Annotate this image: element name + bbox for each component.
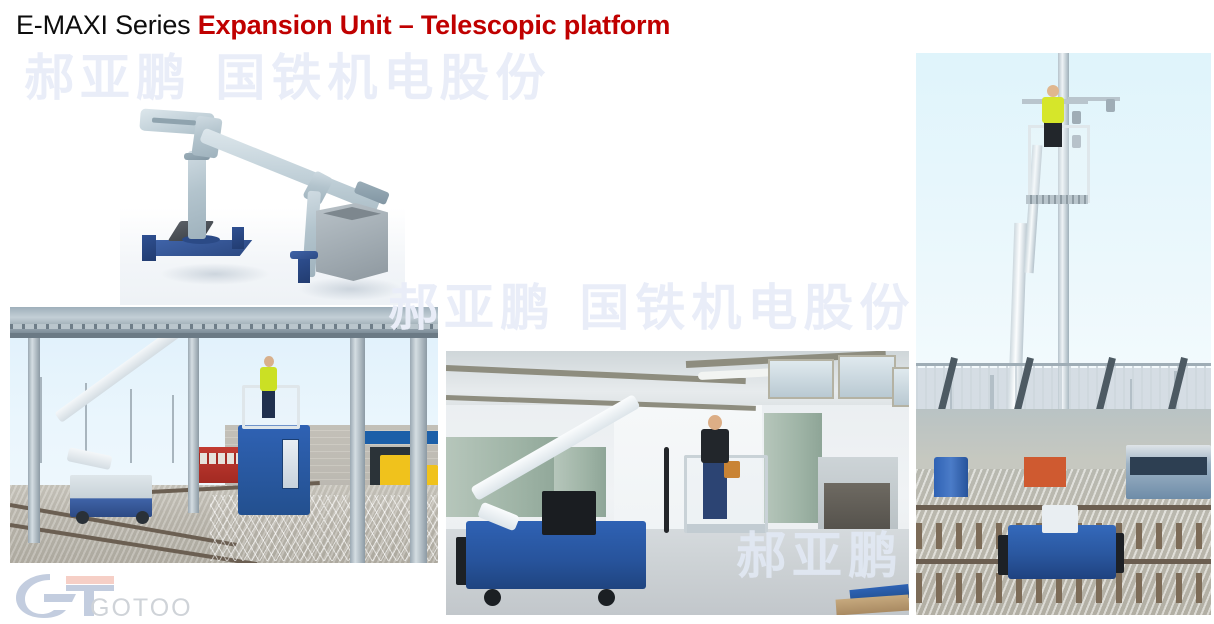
cad-main-boom	[199, 128, 381, 213]
depot-column-3	[350, 338, 365, 563]
catenary-basket-floor	[1026, 195, 1088, 204]
catenary-orange-container	[1024, 457, 1066, 487]
page-title: E-MAXI Series Expansion Unit – Telescopi…	[16, 8, 670, 42]
gotoo-wordmark: GOTOO	[90, 594, 193, 623]
depot-column-4	[410, 338, 427, 563]
catenary-vehicle-placard	[1042, 505, 1078, 533]
workshop-green-panel-right	[764, 413, 822, 523]
catenary-blue-tank	[934, 457, 968, 497]
workshop-window-1	[768, 359, 834, 399]
depot-worker-head	[264, 356, 274, 367]
workshop-worker-torso	[701, 429, 729, 463]
gotoo-logo: GOTOO	[14, 572, 214, 622]
catenary-worker-hi-vis-vest	[1042, 97, 1064, 123]
depot-wheel-left	[76, 511, 89, 524]
workshop-window-3	[892, 367, 909, 407]
depot-cabinet-window	[282, 439, 299, 489]
workshop-worker-tool-belt	[724, 461, 740, 478]
photo-depot	[10, 307, 438, 563]
watermark-middle: 郝亚鹏 国铁机电股份	[388, 268, 915, 340]
slide-canvas: E-MAXI Series Expansion Unit – Telescopi…	[0, 0, 1214, 624]
catenary-worker-head	[1047, 85, 1059, 97]
depot-canopy-underside	[10, 333, 438, 338]
cad-basket-support-leg	[298, 255, 310, 283]
depot-canopy-roof	[10, 307, 438, 333]
cad-base-outrigger-right	[232, 227, 244, 249]
title-plain-text: E-MAXI Series	[16, 10, 198, 40]
workshop-wheel-left	[484, 589, 501, 606]
workshop-worker-head	[708, 415, 722, 430]
catenary-insulator-3	[1106, 99, 1115, 112]
workshop-wheel-right	[598, 589, 615, 606]
catenary-insulator-1	[1072, 111, 1081, 124]
depot-wheel-right	[136, 511, 149, 524]
cad-base-outrigger-left	[142, 235, 156, 261]
cad-mast-column	[188, 151, 206, 239]
workshop-window-2	[838, 355, 896, 399]
cad-basket-support-foot	[290, 251, 318, 259]
workshop-equipment-stack	[542, 491, 596, 535]
catenary-rail-vehicle	[1008, 525, 1116, 579]
depot-worker-legs	[262, 390, 275, 418]
depot-column-2	[188, 338, 199, 513]
cad-basket-shadow	[298, 277, 403, 301]
depot-column-1	[28, 338, 40, 543]
photo-catenary	[916, 53, 1211, 615]
catenary-worker-lower-body	[1044, 121, 1062, 147]
depot-blue-cabinet	[238, 425, 310, 515]
catenary-parked-train	[1126, 445, 1211, 499]
title-accent-text: Expansion Unit – Telescopic platform	[198, 10, 670, 40]
photo-workshop	[446, 351, 909, 615]
cad-render-image	[120, 95, 405, 305]
cad-base-shadow	[160, 263, 270, 285]
depot-worker-hi-vis-vest	[260, 367, 277, 391]
workshop-hydraulic-hose	[664, 447, 669, 533]
depot-catenary-poles	[30, 377, 200, 477]
